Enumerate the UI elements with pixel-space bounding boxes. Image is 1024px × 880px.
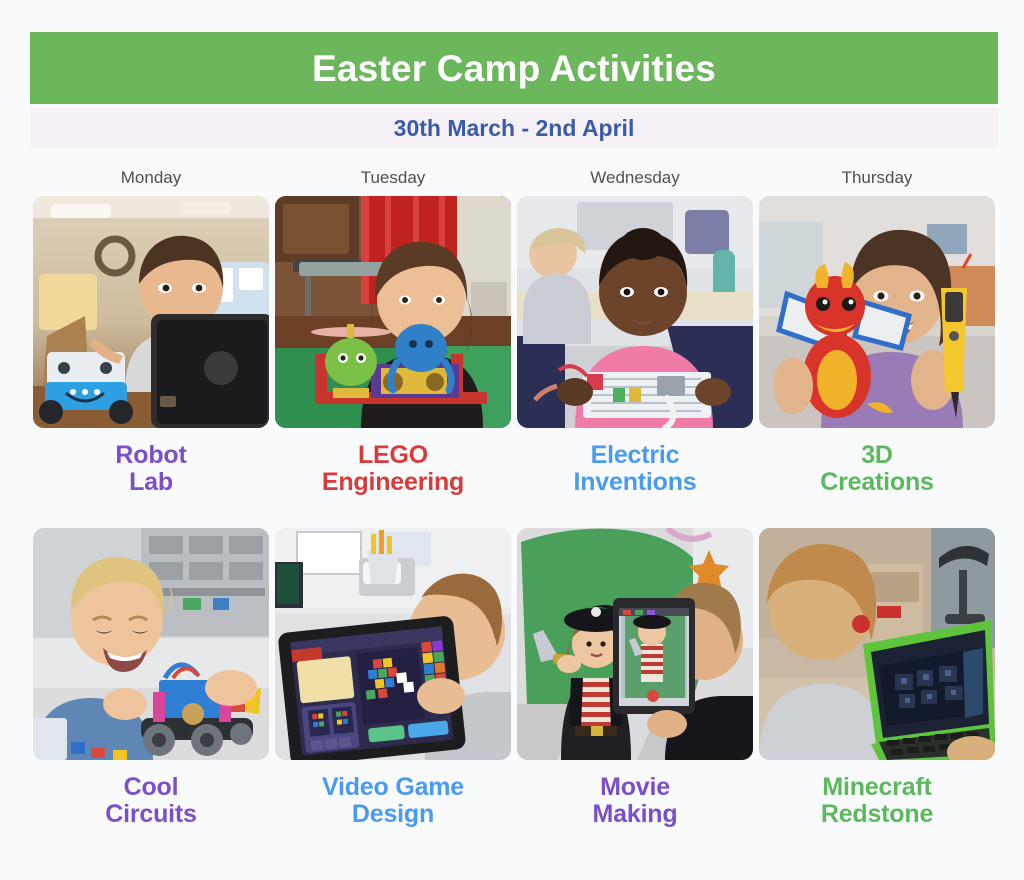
- activities-grid: Monday Tuesday Wednesday Thursday: [30, 158, 998, 826]
- activity-title-wrap: LEGO Engineering: [272, 428, 514, 494]
- activity-title-wrap: Electric Inventions: [514, 428, 756, 494]
- activity-photo-robot-lab: [33, 196, 269, 428]
- activity-title-minecraft-redstone: Minecraft Redstone: [821, 774, 933, 828]
- activity-title-wrap: Movie Making: [514, 760, 756, 826]
- subtitle-bar: 30th March - 2nd April: [30, 108, 998, 148]
- activity-title-video-game-design: Video Game Design: [322, 774, 464, 828]
- activity-photo-movie-making: [517, 528, 753, 760]
- activity-card-robot-lab[interactable]: Robot Lab: [30, 196, 272, 494]
- activity-row-1: Robot Lab: [30, 196, 998, 494]
- easter-camp-poster: Easter Camp Activities 30th March - 2nd …: [0, 0, 1024, 880]
- day-header-row: Monday Tuesday Wednesday Thursday: [30, 158, 998, 196]
- page-title: Easter Camp Activities: [312, 50, 716, 87]
- activity-title-wrap: Video Game Design: [272, 760, 514, 826]
- activity-row-2: Cool Circuits: [30, 528, 998, 826]
- activity-title-movie-making: Movie Making: [593, 774, 678, 828]
- activity-card-3d-creations[interactable]: 3D Creations: [756, 196, 998, 494]
- day-label-tuesday: Tuesday: [272, 158, 514, 196]
- activity-title-wrap: 3D Creations: [756, 428, 998, 494]
- activity-photo-cool-circuits: [33, 528, 269, 760]
- activity-photo-3d-creations: [759, 196, 995, 428]
- activity-photo-minecraft-redstone: [759, 528, 995, 760]
- activity-card-electric-inventions[interactable]: Electric Inventions: [514, 196, 756, 494]
- row-spacer: [30, 494, 998, 528]
- activity-photo-lego-engineering: [275, 196, 511, 428]
- activity-photo-video-game-design: [275, 528, 511, 760]
- activity-title-wrap: Minecraft Redstone: [756, 760, 998, 826]
- header-bar: Easter Camp Activities: [30, 32, 998, 104]
- activity-title-robot-lab: Robot Lab: [115, 442, 186, 496]
- activity-title-wrap: Cool Circuits: [30, 760, 272, 826]
- day-label-wednesday: Wednesday: [514, 158, 756, 196]
- activity-title-lego-engineering: LEGO Engineering: [322, 442, 464, 496]
- activity-title-cool-circuits: Cool Circuits: [105, 774, 196, 828]
- activity-card-video-game-design[interactable]: Video Game Design: [272, 528, 514, 826]
- day-label-monday: Monday: [30, 158, 272, 196]
- date-range: 30th March - 2nd April: [394, 117, 635, 140]
- activity-photo-electric-inventions: [517, 196, 753, 428]
- activity-card-movie-making[interactable]: Movie Making: [514, 528, 756, 826]
- activity-title-electric-inventions: Electric Inventions: [573, 442, 696, 496]
- activity-card-minecraft-redstone[interactable]: Minecraft Redstone: [756, 528, 998, 826]
- activity-card-lego-engineering[interactable]: LEGO Engineering: [272, 196, 514, 494]
- activity-title-wrap: Robot Lab: [30, 428, 272, 494]
- day-label-thursday: Thursday: [756, 158, 998, 196]
- activity-card-cool-circuits[interactable]: Cool Circuits: [30, 528, 272, 826]
- activity-title-3d-creations: 3D Creations: [820, 442, 934, 496]
